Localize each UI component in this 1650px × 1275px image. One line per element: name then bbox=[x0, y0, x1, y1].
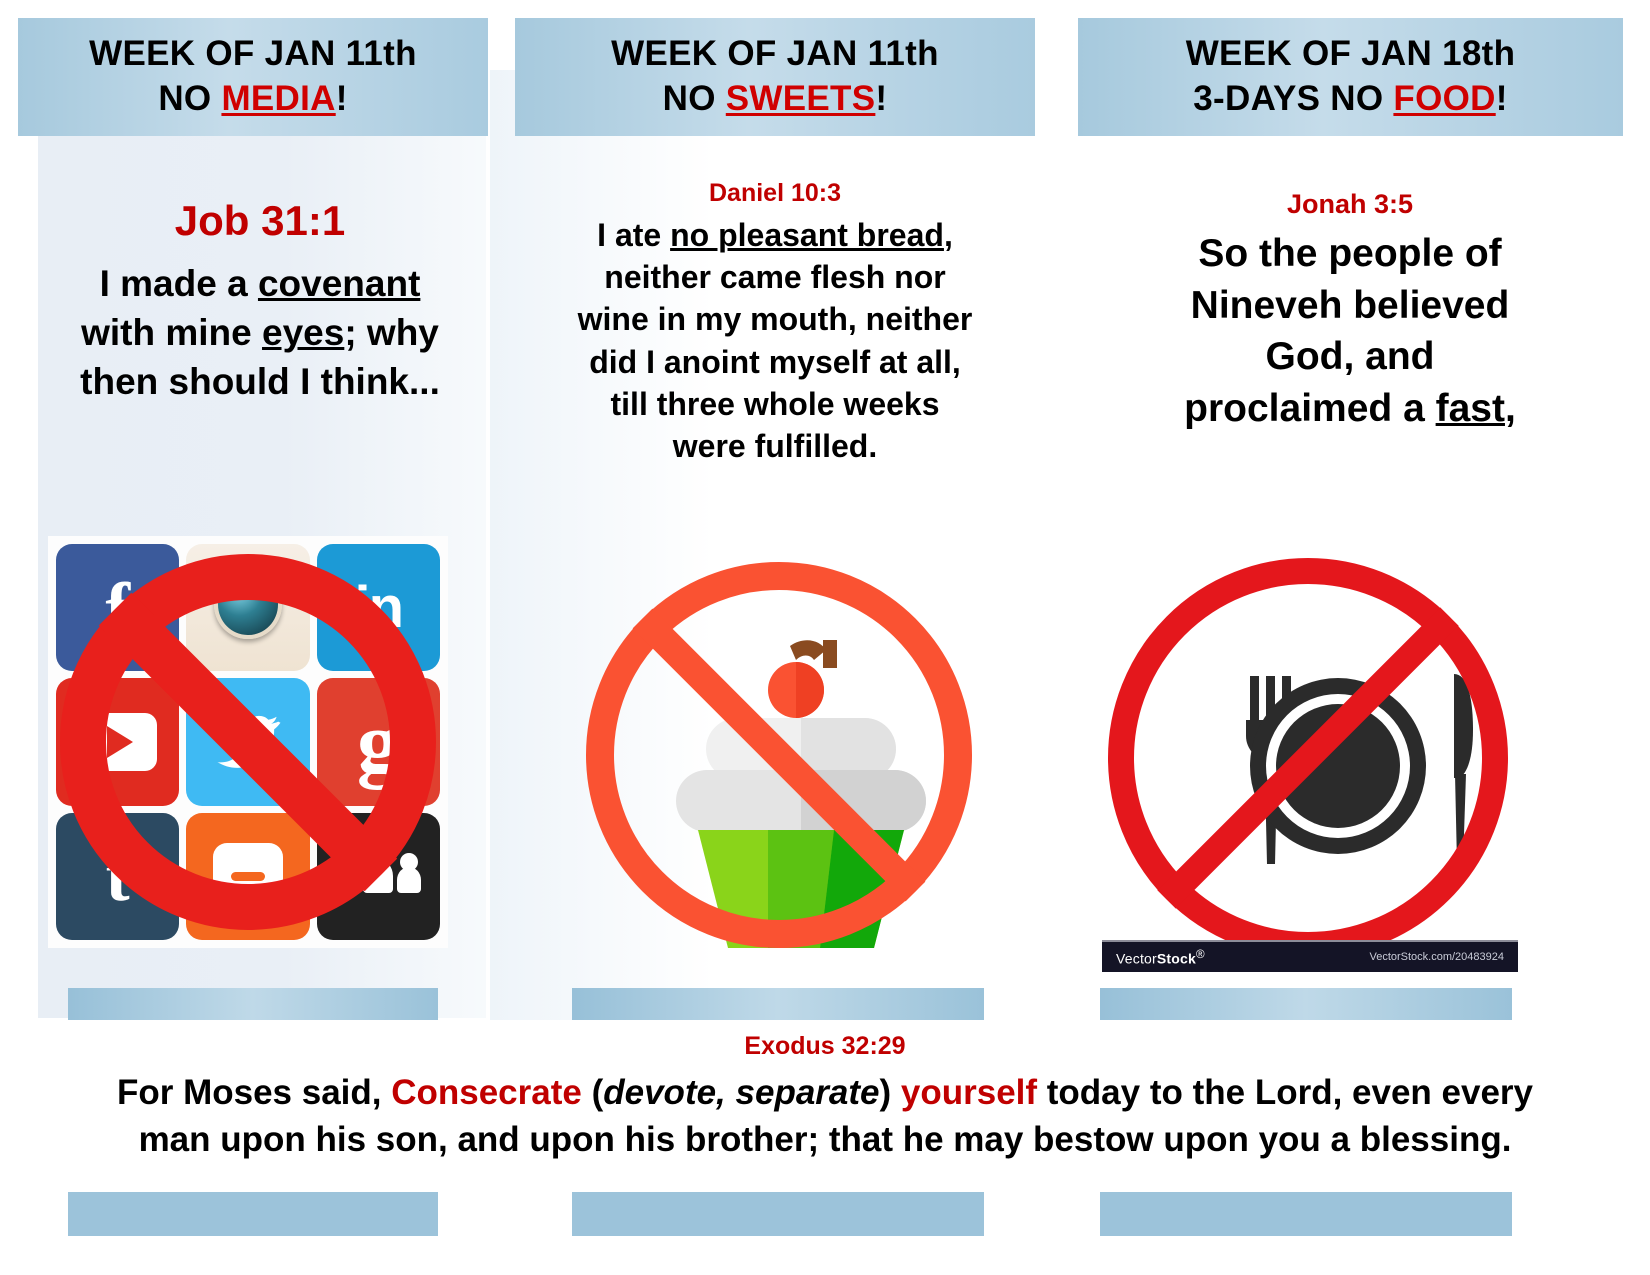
no-sweets-image bbox=[568, 548, 988, 960]
prohibition-bar bbox=[1157, 607, 1458, 908]
footer-text: ( bbox=[582, 1073, 603, 1112]
prohibition-bar bbox=[633, 609, 926, 902]
footer-text: ) bbox=[880, 1073, 901, 1112]
verse-line: then should I think... bbox=[40, 358, 480, 407]
verse-text: I ate bbox=[597, 217, 670, 253]
verse-line: neither came flesh nor bbox=[520, 256, 1030, 298]
footer-line-1: For Moses said, Consecrate (devote, sepa… bbox=[60, 1070, 1590, 1117]
verse-text: I made a bbox=[100, 263, 258, 304]
prohibition-sign-icon bbox=[60, 554, 436, 930]
verse-underlined: fast bbox=[1436, 387, 1505, 430]
banner-suffix: ! bbox=[336, 79, 348, 118]
banner-highlight: MEDIA bbox=[221, 79, 335, 118]
verse-underlined: eyes bbox=[262, 312, 344, 353]
verse-text: proclaimed a bbox=[1184, 387, 1435, 430]
banner-highlight: FOOD bbox=[1393, 79, 1495, 118]
bottom-strip-column-1 bbox=[68, 1192, 438, 1236]
prohibition-sign-icon bbox=[1108, 558, 1508, 958]
verse-underlined: no pleasant bread bbox=[670, 217, 944, 253]
verse-body: I made a covenant with mine eyes; why th… bbox=[40, 260, 480, 406]
banner-prefix: NO bbox=[158, 79, 221, 118]
verse-line: till three whole weeks bbox=[520, 383, 1030, 425]
banner-line-2: 3-DAYS NO FOOD! bbox=[1193, 77, 1507, 122]
watermark-brand: VectorStock® bbox=[1116, 948, 1205, 967]
prohibition-bar bbox=[99, 593, 397, 891]
banner-line-1: WEEK OF JAN 18th bbox=[1186, 32, 1516, 77]
verse-line: Nineveh believed bbox=[1085, 280, 1615, 331]
footer-verse: For Moses said, Consecrate (devote, sepa… bbox=[60, 1070, 1590, 1164]
footer-italic: devote, separate bbox=[603, 1073, 879, 1112]
verse-line: I made a covenant bbox=[40, 260, 480, 309]
footer-highlight-consecrate: Consecrate bbox=[391, 1073, 582, 1112]
banner-prefix: NO bbox=[663, 79, 726, 118]
verse-text: , bbox=[944, 217, 953, 253]
verse-text: , bbox=[1505, 387, 1516, 430]
verse-body: So the people of Nineveh believed God, a… bbox=[1085, 228, 1615, 434]
banner-week-jan-11-media: WEEK OF JAN 11th NO MEDIA! bbox=[18, 18, 488, 136]
banner-line-2: NO MEDIA! bbox=[158, 77, 347, 122]
verse-reference: Jonah 3:5 bbox=[1085, 188, 1615, 220]
watermark-brand-b: Stock bbox=[1157, 950, 1196, 966]
banner-highlight: SWEETS bbox=[726, 79, 876, 118]
no-food-image: VectorStock® VectorStock.com/20483924 bbox=[1098, 548, 1522, 960]
banner-line-1: WEEK OF JAN 11th bbox=[89, 32, 417, 77]
decor-strip-column-3 bbox=[1100, 988, 1512, 1020]
decor-strip-column-2 bbox=[572, 988, 984, 1020]
verse-text: with mine bbox=[81, 312, 262, 353]
bottom-strip-column-2 bbox=[572, 1192, 984, 1236]
verse-job-31-1: Job 31:1 I made a covenant with mine eye… bbox=[40, 196, 480, 407]
verse-text: ; why bbox=[344, 312, 439, 353]
verse-jonah-3-5: Jonah 3:5 So the people of Nineveh belie… bbox=[1085, 188, 1615, 434]
banner-suffix: ! bbox=[1496, 79, 1508, 118]
verse-line: proclaimed a fast, bbox=[1085, 383, 1615, 434]
banner-line-1: WEEK OF JAN 11th bbox=[611, 32, 939, 77]
banner-week-jan-18-food: WEEK OF JAN 18th 3-DAYS NO FOOD! bbox=[1078, 18, 1623, 136]
verse-daniel-10-3: Daniel 10:3 I ate no pleasant bread, nei… bbox=[520, 178, 1030, 467]
footer-text: For Moses said, bbox=[117, 1073, 391, 1112]
verse-line: with mine eyes; why bbox=[40, 309, 480, 358]
watermark-brand-mark: ® bbox=[1196, 948, 1205, 961]
verse-line: God, and bbox=[1085, 331, 1615, 382]
verse-underlined: covenant bbox=[258, 263, 420, 304]
watermark-brand-a: Vector bbox=[1116, 950, 1157, 966]
banner-suffix: ! bbox=[875, 79, 887, 118]
vectorstock-watermark: VectorStock® VectorStock.com/20483924 bbox=[1102, 940, 1518, 972]
bottom-strip-column-3 bbox=[1100, 1192, 1512, 1236]
flyer-canvas: WEEK OF JAN 11th NO MEDIA! WEEK OF JAN 1… bbox=[0, 0, 1650, 1275]
verse-body: I ate no pleasant bread, neither came fl… bbox=[520, 214, 1030, 467]
prohibition-sign-icon bbox=[586, 562, 972, 948]
footer-highlight-yourself: yourself bbox=[901, 1073, 1037, 1112]
decor-strip-column-1 bbox=[68, 988, 438, 1020]
verse-reference: Job 31:1 bbox=[40, 196, 480, 246]
verse-reference: Daniel 10:3 bbox=[520, 178, 1030, 208]
verse-line: did I anoint myself at all, bbox=[520, 341, 1030, 383]
watermark-url: VectorStock.com/20483924 bbox=[1369, 951, 1504, 963]
verse-line: were fulfilled. bbox=[520, 425, 1030, 467]
banner-line-2: NO SWEETS! bbox=[663, 77, 888, 122]
verse-line: I ate no pleasant bread, bbox=[520, 214, 1030, 256]
verse-line: So the people of bbox=[1085, 228, 1615, 279]
footer-reference: Exodus 32:29 bbox=[0, 1032, 1650, 1061]
banner-week-jan-11-sweets: WEEK OF JAN 11th NO SWEETS! bbox=[515, 18, 1035, 136]
footer-line-2: man upon his son, and upon his brother; … bbox=[60, 1117, 1590, 1164]
verse-line: wine in my mouth, neither bbox=[520, 298, 1030, 340]
banner-prefix: 3-DAYS NO bbox=[1193, 79, 1393, 118]
footer-text: today to the Lord, even every bbox=[1037, 1073, 1533, 1112]
no-media-image: f in g t bbox=[48, 536, 448, 948]
